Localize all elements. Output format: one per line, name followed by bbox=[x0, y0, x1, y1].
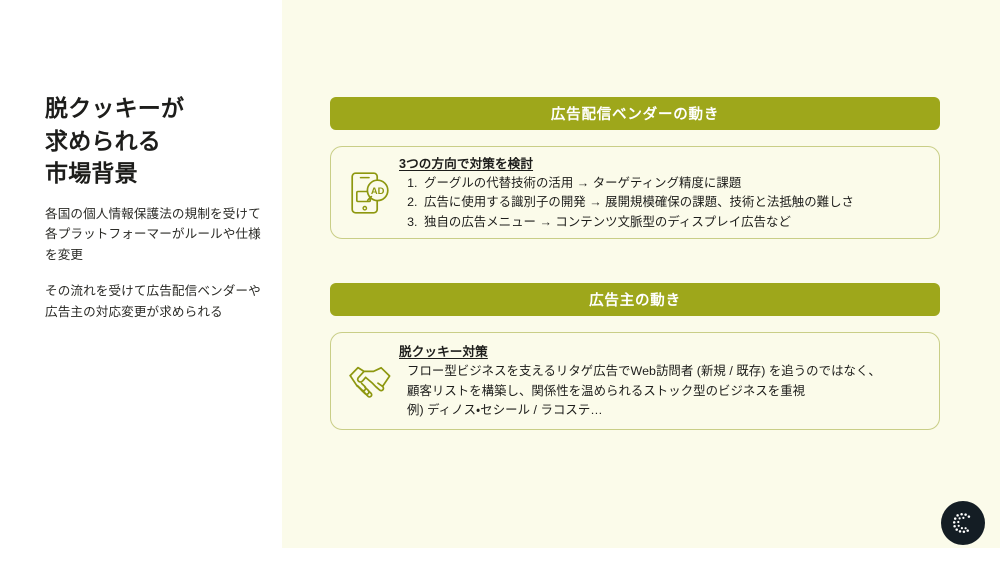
section-header-advertiser: 広告主の動き bbox=[330, 283, 940, 316]
text-line: 顧客リストを構築し、関係性を温められるストック型のビジネスを重視 bbox=[407, 382, 925, 402]
section-header-vendor: 広告配信ベンダーの動き bbox=[330, 97, 940, 130]
page-title-line-3: 市場背景 bbox=[45, 157, 270, 190]
list-item: グーグルの代替技術の活用 → ターゲティング精度に課題 bbox=[421, 174, 925, 194]
handshake-icon bbox=[343, 361, 397, 401]
section-box-advertiser: 脱クッキー対策 フロー型ビジネスを支えるリタゲ広告でWeb訪問者 (新規 / 既… bbox=[330, 332, 940, 430]
list-item: 広告に使用する識別子の開発 → 展開規模確保の課題、技術と法抵触の難しさ bbox=[421, 193, 925, 213]
left-column: 脱クッキーが 求められる 市場背景 各国の個人情報保護法の規制を受けて各プラット… bbox=[45, 92, 270, 322]
section-box-vendor-list: グーグルの代替技術の活用 → ターゲティング精度に課題 広告に使用する識別子の開… bbox=[399, 174, 925, 233]
brand-logo bbox=[941, 501, 985, 545]
svg-text:AD: AD bbox=[371, 185, 385, 196]
section-box-vendor: AD 3つの方向で対策を検討 グーグルの代替技術の活用 → ターゲティング精度に… bbox=[330, 146, 940, 239]
section-header-advertiser-label: 広告主の動き bbox=[589, 289, 681, 310]
page-title: 脱クッキーが 求められる 市場背景 bbox=[45, 92, 270, 190]
intro-paragraph-1: 各国の個人情報保護法の規制を受けて各プラットフォーマーがルールや仕様を変更 bbox=[45, 204, 270, 265]
slide-canvas: 脱クッキーが 求められる 市場背景 各国の個人情報保護法の規制を受けて各プラット… bbox=[0, 0, 1000, 563]
text-line: フロー型ビジネスを支えるリタゲ広告でWeb訪問者 (新規 / 既存) を追うので… bbox=[407, 362, 925, 382]
page-title-line-1: 脱クッキーが bbox=[45, 92, 270, 125]
section-box-advertiser-lines: フロー型ビジネスを支えるリタゲ広告でWeb訪問者 (新規 / 既存) を追うので… bbox=[399, 362, 925, 421]
section-box-advertiser-title: 脱クッキー対策 bbox=[399, 341, 925, 360]
text-line: 例) ディノス・セシール / ラコステ… bbox=[407, 401, 925, 421]
intro-paragraph-2: その流れを受けて広告配信ベンダーや広告主の対応変更が求められる bbox=[45, 281, 270, 322]
list-item: 独自の広告メニュー → コンテンツ文脈型のディスプレイ広告など bbox=[421, 213, 925, 233]
content-panel-background bbox=[282, 0, 1000, 548]
page-title-line-2: 求められる bbox=[45, 125, 270, 158]
section-box-vendor-title: 3つの方向で対策を検討 bbox=[399, 153, 925, 172]
smartphone-ad-icon: AD bbox=[343, 171, 397, 215]
section-header-vendor-label: 広告配信ベンダーの動き bbox=[551, 103, 719, 124]
